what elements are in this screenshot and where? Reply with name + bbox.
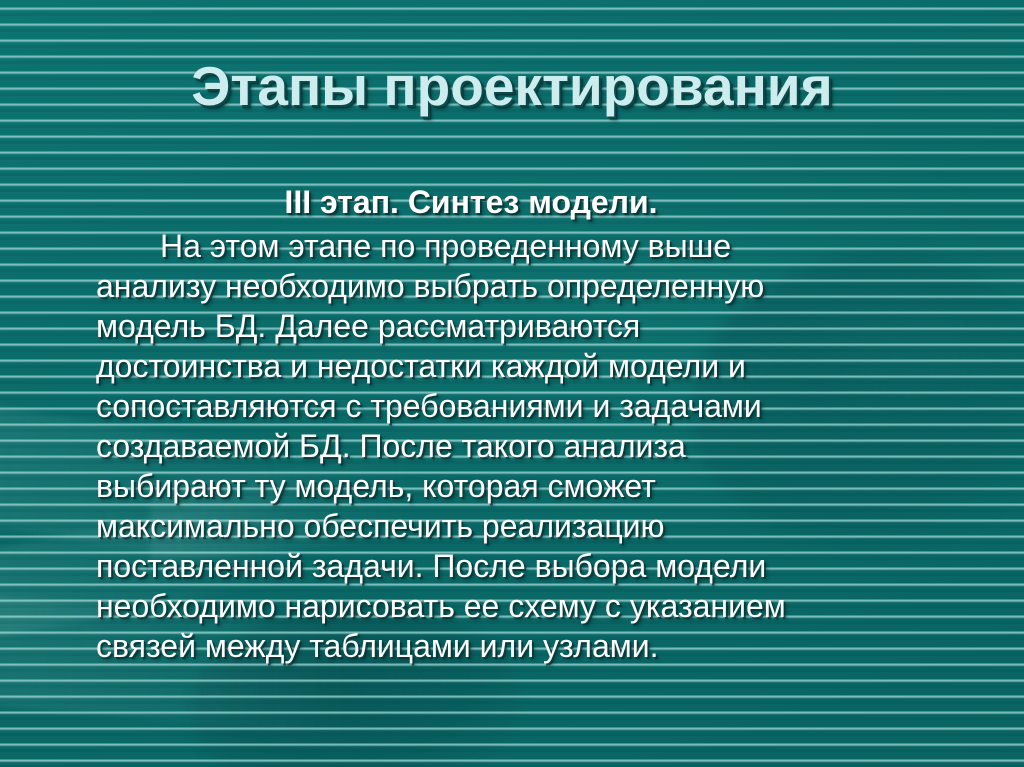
paragraph-line: необходимо нарисовать ее схему с указани… bbox=[96, 586, 996, 626]
paragraph-line: поставленной задачи. После выбора модели bbox=[96, 546, 996, 586]
paragraph-line: сопоставляются с требованиями и задачами bbox=[96, 386, 996, 426]
slide-body: III этап. Синтез модели. На этом этапе п… bbox=[96, 182, 996, 666]
paragraph-line: анализу необходимо выбрать определенную bbox=[96, 266, 996, 306]
paragraph-line: модель БД. Далее рассматриваются bbox=[96, 306, 996, 346]
paragraph-line: достоинства и недостатки каждой модели и bbox=[96, 346, 996, 386]
presentation-slide: Этапы проектирования III этап. Синтез мо… bbox=[0, 0, 1024, 767]
paragraph-line: выбирают ту модель, которая сможет bbox=[96, 466, 996, 506]
slide-subtitle: III этап. Синтез модели. bbox=[96, 182, 996, 222]
slide-content: Этапы проектирования III этап. Синтез мо… bbox=[0, 0, 1024, 767]
paragraph-line: создаваемой БД. После такого анализа bbox=[96, 426, 996, 466]
slide-title: Этапы проектирования bbox=[0, 58, 1024, 116]
paragraph-line: На этом этапе по проведенному выше bbox=[96, 226, 996, 266]
paragraph-line: связей между таблицами или узлами. bbox=[96, 626, 996, 666]
paragraph-line: максимально обеспечить реализацию bbox=[96, 506, 996, 546]
slide-paragraph: На этом этапе по проведенному вышеанализ… bbox=[96, 226, 996, 666]
